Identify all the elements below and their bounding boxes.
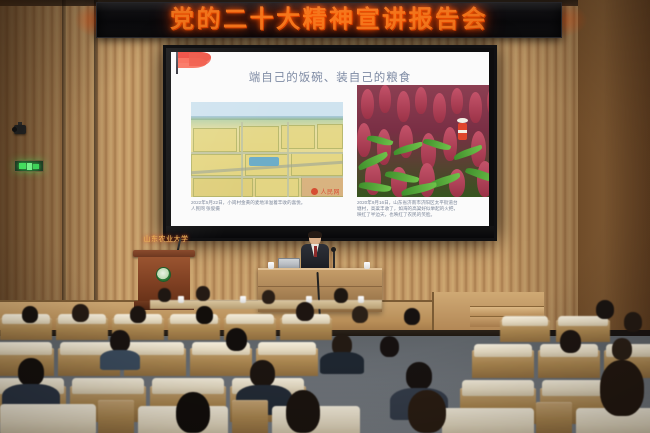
audience-head xyxy=(612,338,632,360)
seat-cushion xyxy=(474,344,532,357)
watermark-text: 人民网 xyxy=(320,187,340,196)
audience-head xyxy=(72,304,89,322)
presentation-slide: 端自己的饭碗、装自己的粮食 xyxy=(171,52,489,226)
water-cup xyxy=(178,296,184,303)
water-cup xyxy=(240,296,246,303)
lecture-hall-photo: 党的二十大精神宣讲报告会 端自己的饭碗、装自己的粮食 xyxy=(0,0,650,433)
photo-caption-left: 2022年5月22日，小岗村金黄的麦地洋溢着丰收的喜悦。 人民网 张俊摄 xyxy=(191,200,346,212)
audience-head xyxy=(110,330,130,352)
water-cup xyxy=(364,262,370,269)
seat-cushion xyxy=(258,342,316,355)
audience-head xyxy=(130,306,146,323)
screen-bottom-bar xyxy=(166,226,494,238)
audience-head xyxy=(596,300,614,319)
seat-cushion xyxy=(462,380,534,396)
audience-head xyxy=(226,328,247,351)
audience-head xyxy=(176,392,210,433)
audience-head xyxy=(262,290,275,304)
audience-head xyxy=(196,286,210,301)
stage-step xyxy=(470,306,544,316)
seat-cushion xyxy=(226,314,274,324)
presenter-figure xyxy=(300,232,330,272)
led-banner-text: 党的二十大精神宣讲报告会 xyxy=(170,8,488,32)
seat-cushion xyxy=(0,342,52,355)
slide-photo-sorghum-field xyxy=(357,85,489,197)
audience-head xyxy=(624,312,642,332)
security-camera-icon xyxy=(12,122,28,137)
university-crest-icon xyxy=(156,267,171,282)
water-cup xyxy=(268,262,274,269)
seat-cushion xyxy=(502,316,548,326)
audience-seat xyxy=(232,400,268,433)
seat-cushion xyxy=(442,408,534,433)
audience-head xyxy=(296,302,314,321)
slide-photo-wheat-fields: 人民网 xyxy=(191,102,343,197)
audience-head xyxy=(334,288,348,303)
audience-head xyxy=(286,390,320,433)
audience-head xyxy=(250,360,275,387)
projection-screen: 端自己的饭碗、装自己的粮食 xyxy=(163,45,497,241)
audience-head xyxy=(408,390,446,433)
led-banner: 党的二十大精神宣讲报告会 xyxy=(96,2,562,38)
led-glow xyxy=(558,2,588,38)
audience-head xyxy=(22,306,38,323)
audience-head xyxy=(560,330,581,353)
slide-title: 端自己的饭碗、装自己的粮食 xyxy=(171,69,489,85)
audience-head xyxy=(380,336,399,357)
audience-head xyxy=(352,306,368,323)
seat-cushion xyxy=(72,378,144,394)
audience-shoulders xyxy=(320,352,364,374)
audience-head xyxy=(406,362,432,390)
photo-caption-right: 2020年9月16日，山东省济南市济阳区太平街道台 塘村，高粱丰收了，如海的高粱… xyxy=(357,200,489,218)
wall-shadow-right xyxy=(500,0,650,330)
exit-sign xyxy=(14,160,44,172)
institution-wall-sign: 山东农业大学 xyxy=(140,234,192,244)
photo-watermark: 人民网 xyxy=(311,187,340,196)
audience-head xyxy=(404,308,420,325)
water-cup xyxy=(358,296,364,303)
farmer-figure xyxy=(456,118,469,144)
audience-head xyxy=(196,306,213,324)
audience-seat xyxy=(98,400,134,433)
audience-head xyxy=(18,358,44,386)
audience-head xyxy=(158,288,171,302)
audience-head xyxy=(600,360,644,416)
seat-cushion xyxy=(0,404,96,433)
audience-shoulders xyxy=(100,350,140,370)
audience-seat xyxy=(536,402,572,433)
